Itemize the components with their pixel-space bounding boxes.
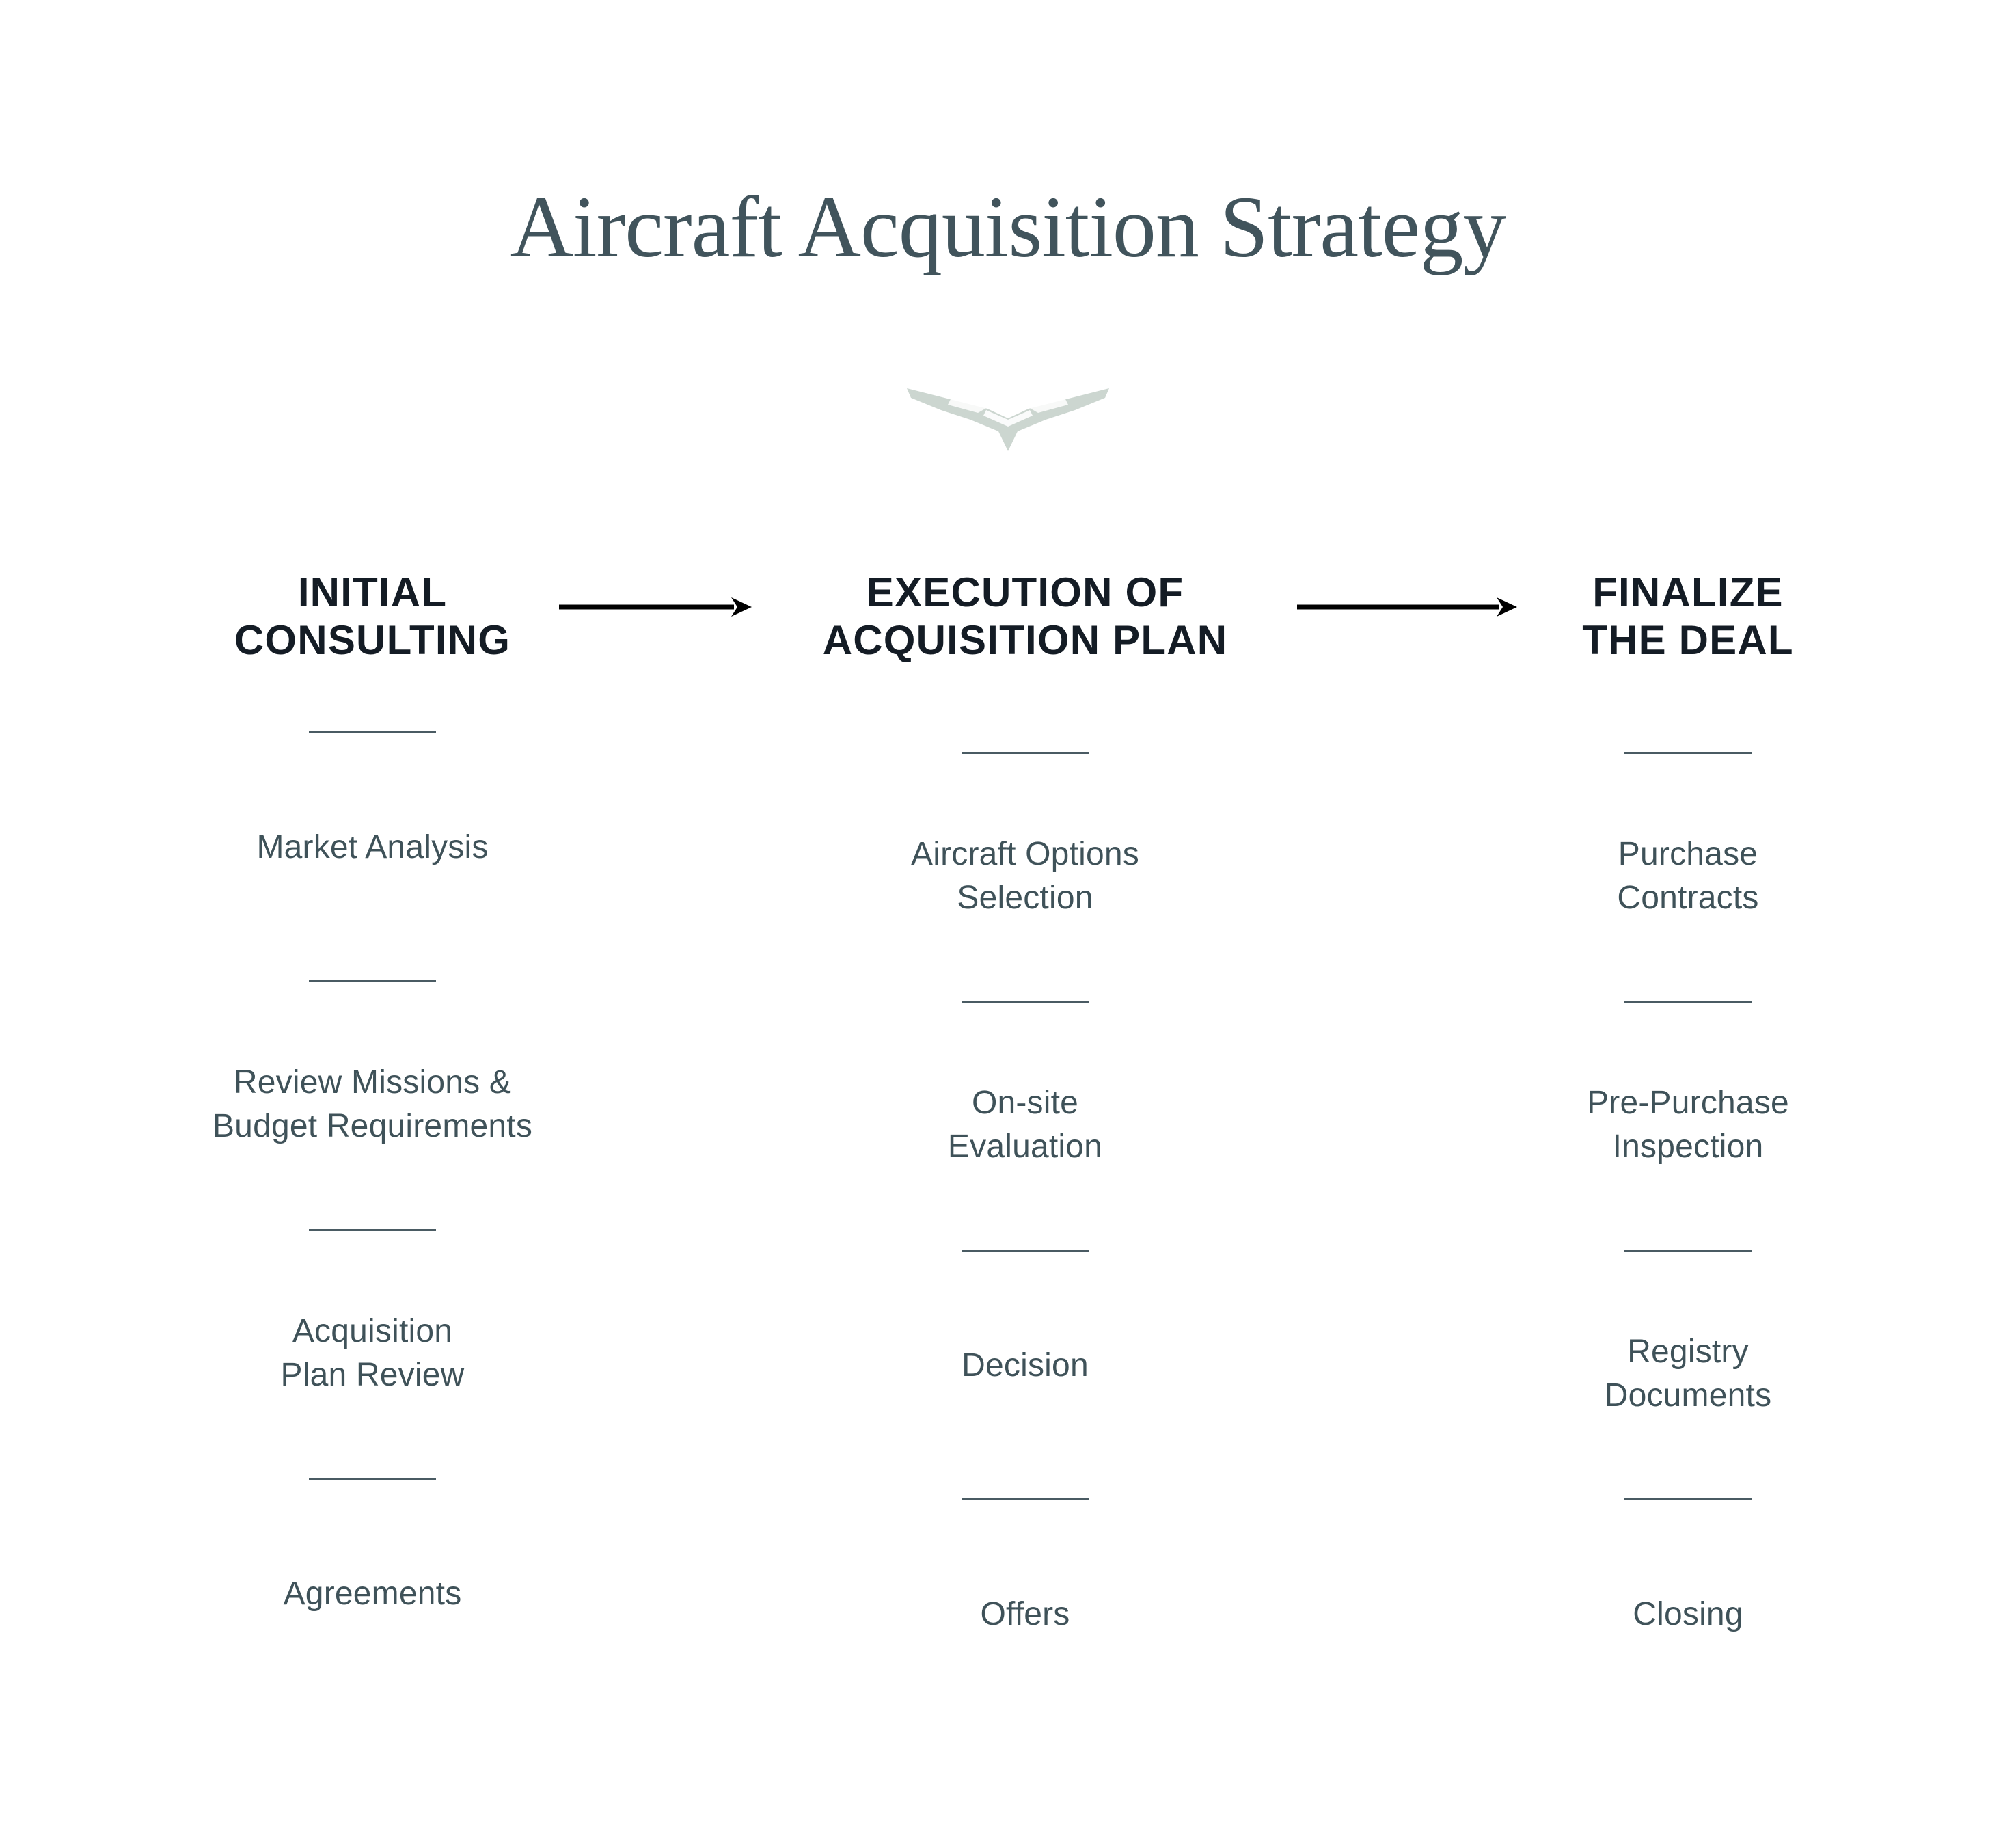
arrow-right-icon [1297, 593, 1517, 621]
stage-heading-line-2: THE DEAL [1476, 617, 1900, 664]
step-divider [962, 1250, 1089, 1252]
process-flow-diagram: INITIAL CONSULTING Market Analysis Revie… [0, 0, 2016, 1823]
arrow-stage-2-to-3 [1297, 593, 1517, 621]
stage-heading-line-1: FINALIZE [1476, 569, 1900, 617]
step-label: Decision [813, 1344, 1237, 1388]
step-divider [1624, 1250, 1752, 1252]
step-label-line-1: Review Missions & [161, 1061, 584, 1105]
step-label-line-1: Purchase [1476, 833, 1900, 876]
stage-heading-execution-of-acquisition-plan: EXECUTION OF ACQUISITION PLAN [813, 569, 1237, 664]
step-label-line-1: Acquisition [161, 1310, 584, 1353]
step-label: Acquisition Plan Review [161, 1310, 584, 1397]
step-label-line-1: Closing [1476, 1593, 1900, 1636]
step-divider [1624, 1498, 1752, 1500]
step-label: Registry Documents [1476, 1330, 1900, 1418]
stage-heading-line-1: EXECUTION OF [813, 569, 1237, 617]
step-label-line-1: Agreements [161, 1572, 584, 1616]
step-item: Pre-Purchase Inspection [1476, 1001, 1900, 1250]
step-label: Pre-Purchase Inspection [1476, 1081, 1900, 1169]
stage-heading-line-2: CONSULTING [161, 617, 584, 664]
step-label: On-site Evaluation [813, 1081, 1237, 1169]
stage-heading-line-2: ACQUISITION PLAN [813, 617, 1237, 664]
step-item: Purchase Contracts [1476, 752, 1900, 1001]
step-item: Market Analysis [161, 731, 584, 980]
step-item: On-site Evaluation [813, 1001, 1237, 1250]
step-label-line-2: Selection [813, 876, 1237, 920]
stage-heading-initial-consulting: INITIAL CONSULTING [161, 569, 584, 664]
arrow-right-icon [559, 593, 752, 621]
step-divider [309, 1229, 436, 1231]
step-label-line-1: Registry [1476, 1330, 1900, 1374]
step-label: Purchase Contracts [1476, 833, 1900, 920]
stage-heading-finalize-the-deal: FINALIZE THE DEAL [1476, 569, 1900, 664]
step-label-line-1: Offers [813, 1593, 1237, 1636]
step-label-line-2: Contracts [1476, 876, 1900, 920]
step-divider [309, 980, 436, 982]
step-item: Offers [813, 1498, 1237, 1747]
step-label-line-1: Aircraft Options [813, 833, 1237, 876]
step-label: Aircraft Options Selection [813, 833, 1237, 920]
step-list-initial-consulting: Market Analysis Review Missions & Budget… [161, 731, 584, 1727]
step-divider [1624, 1001, 1752, 1003]
step-label-line-1: Market Analysis [161, 826, 584, 869]
step-item: Registry Documents [1476, 1250, 1900, 1498]
step-label-line-2: Budget Requirements [161, 1105, 584, 1148]
step-label-line-1: Pre-Purchase [1476, 1081, 1900, 1125]
step-item: Closing [1476, 1498, 1900, 1747]
step-label-line-1: Decision [813, 1344, 1237, 1388]
step-label-line-2: Inspection [1476, 1125, 1900, 1169]
step-list-finalize-the-deal: Purchase Contracts Pre-Purchase Inspecti… [1476, 752, 1900, 1747]
step-item: Decision [813, 1250, 1237, 1498]
step-label: Offers [813, 1593, 1237, 1636]
step-item: Aircraft Options Selection [813, 752, 1237, 1001]
arrow-stage-1-to-2 [559, 593, 752, 621]
step-divider [962, 1001, 1089, 1003]
step-divider [1624, 752, 1752, 754]
step-item: Agreements [161, 1478, 584, 1727]
step-item: Review Missions & Budget Requirements [161, 980, 584, 1229]
step-list-execution-of-acquisition-plan: Aircraft Options Selection On-site Evalu… [813, 752, 1237, 1747]
step-item: Acquisition Plan Review [161, 1229, 584, 1478]
step-label: Review Missions & Budget Requirements [161, 1061, 584, 1148]
stage-heading-line-1: INITIAL [161, 569, 584, 617]
step-label-line-1: On-site [813, 1081, 1237, 1125]
step-label: Agreements [161, 1572, 584, 1616]
step-divider [309, 1478, 436, 1480]
step-label: Closing [1476, 1593, 1900, 1636]
step-divider [962, 752, 1089, 754]
step-divider [309, 731, 436, 733]
step-label-line-2: Plan Review [161, 1353, 584, 1397]
step-divider [962, 1498, 1089, 1500]
step-label-line-2: Documents [1476, 1374, 1900, 1418]
step-label-line-2: Evaluation [813, 1125, 1237, 1169]
step-label: Market Analysis [161, 826, 584, 869]
